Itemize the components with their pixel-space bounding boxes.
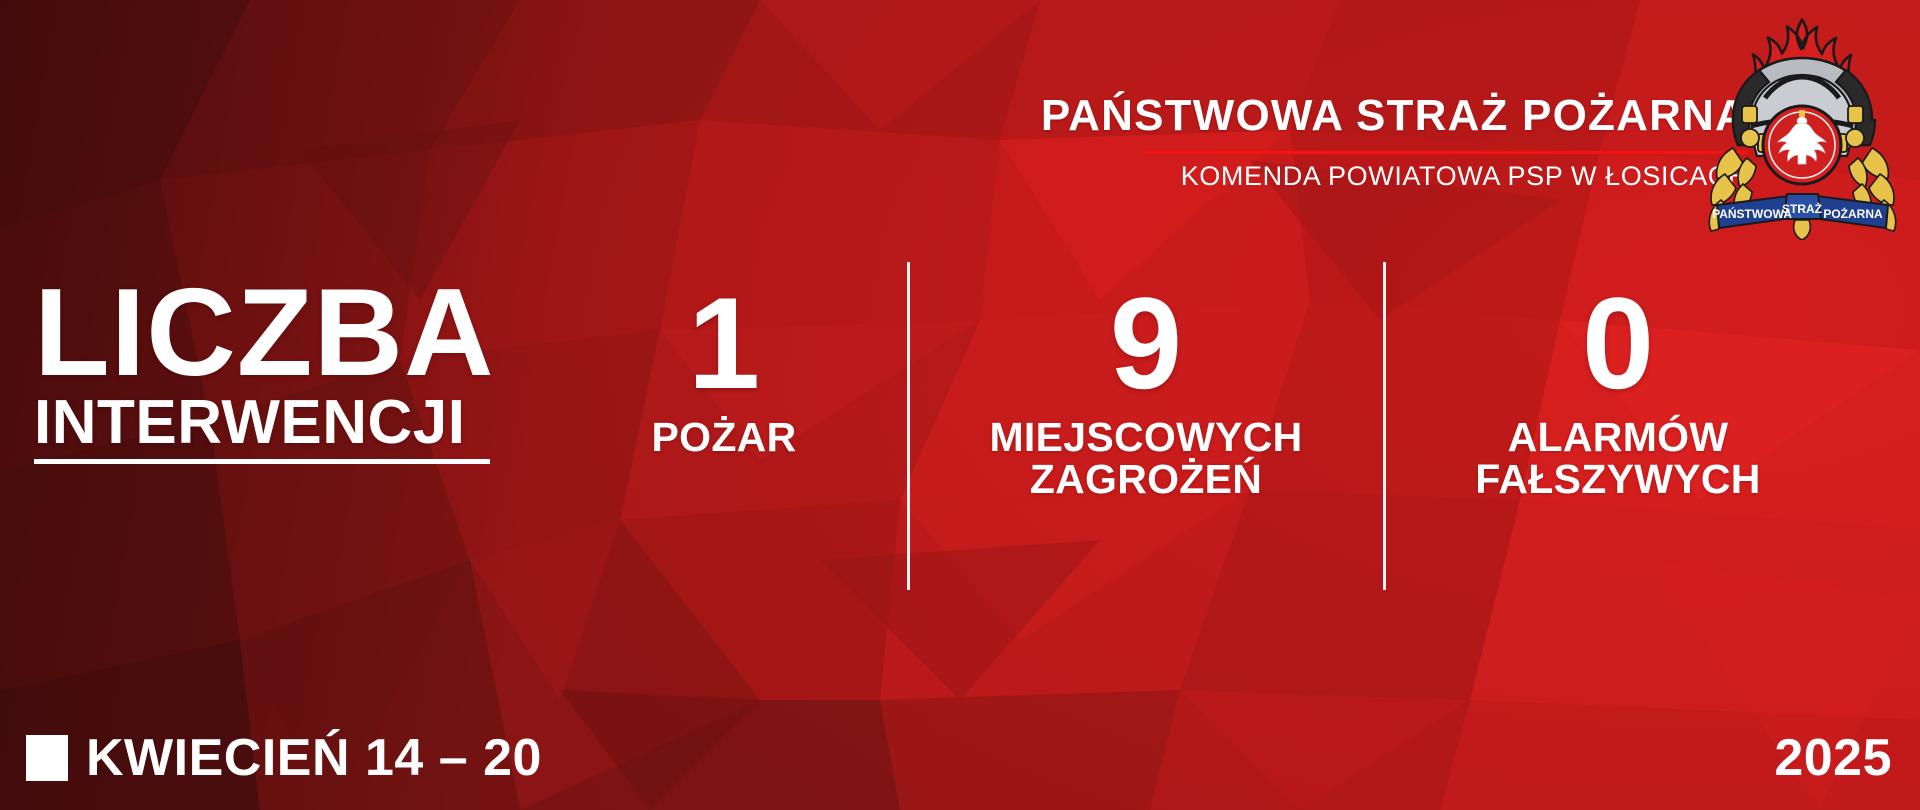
stat-false-alarms-label: ALARMÓW FAŁSZYWYCH: [1475, 416, 1760, 501]
stat-local-threats-label-line2: ZAGROŻEŃ: [1030, 456, 1262, 502]
stat-false-alarms-label-line1: ALARMÓW: [1508, 414, 1729, 460]
statistics-row: 1 POŻAR 9 MIEJSCOWYCH ZAGROŻEŃ 0 ALARMÓW…: [596, 228, 1866, 568]
header-block: PAŃSTWOWA STRAŻ POŻARNA KOMENDA POWIATOW…: [1008, 94, 1748, 190]
stat-local-threats-label-line1: MIEJSCOWYCH: [989, 414, 1302, 460]
headline-underline: [34, 459, 490, 464]
stat-divider-1: [906, 284, 910, 568]
footer-period-block: KWIECIEŃ 14 – 20: [26, 732, 542, 784]
stat-local-threats-value: 9: [1110, 288, 1182, 400]
stat-fires-label-line1: POŻAR: [652, 414, 797, 460]
stat-false-alarms-value: 0: [1582, 288, 1654, 400]
logo-banner-center-text: STRAŻ: [1782, 201, 1822, 216]
organization-subtitle: KOMENDA POWIATOWA PSP W ŁOSICACH: [1008, 163, 1748, 190]
stat-fires-value: 1: [688, 288, 760, 400]
footer-period-text: KWIECIEŃ 14 – 20: [86, 732, 542, 784]
header-divider-rule: [1143, 151, 1748, 154]
footer-year-text: 2025: [1774, 732, 1892, 784]
stat-fires-label: POŻAR: [652, 416, 797, 459]
infographic-banner: PAŃSTWOWA STRAŻ POŻARNA KOMENDA POWIATOW…: [0, 0, 1920, 810]
stat-divider-2: [1382, 284, 1386, 568]
stat-false-alarms: 0 ALARMÓW FAŁSZYWYCH: [1440, 228, 1796, 568]
logo-banner-left-text: PAŃSTWOWA: [1712, 206, 1792, 221]
logo-banner-right-text: POŻARNA: [1823, 206, 1883, 221]
psp-emblem-logo: PAŃSTWOWA STRAŻ POŻARNA: [1695, 8, 1910, 240]
organization-title: PAŃSTWOWA STRAŻ POŻARNA: [1008, 94, 1748, 138]
stat-false-alarms-label-line2: FAŁSZYWYCH: [1475, 456, 1760, 502]
stat-fires: 1 POŻAR: [596, 228, 852, 568]
headline-block: LICZBA INTERWENCJI: [34, 276, 564, 464]
white-square-bullet-icon: [26, 735, 68, 781]
headline-primary: LICZBA: [34, 276, 564, 390]
stat-local-threats-label: MIEJSCOWYCH ZAGROŻEŃ: [989, 416, 1302, 501]
stat-local-threats: 9 MIEJSCOWYCH ZAGROŻEŃ: [964, 228, 1328, 568]
headline-secondary-wrap: INTERWENCJI: [34, 392, 564, 464]
